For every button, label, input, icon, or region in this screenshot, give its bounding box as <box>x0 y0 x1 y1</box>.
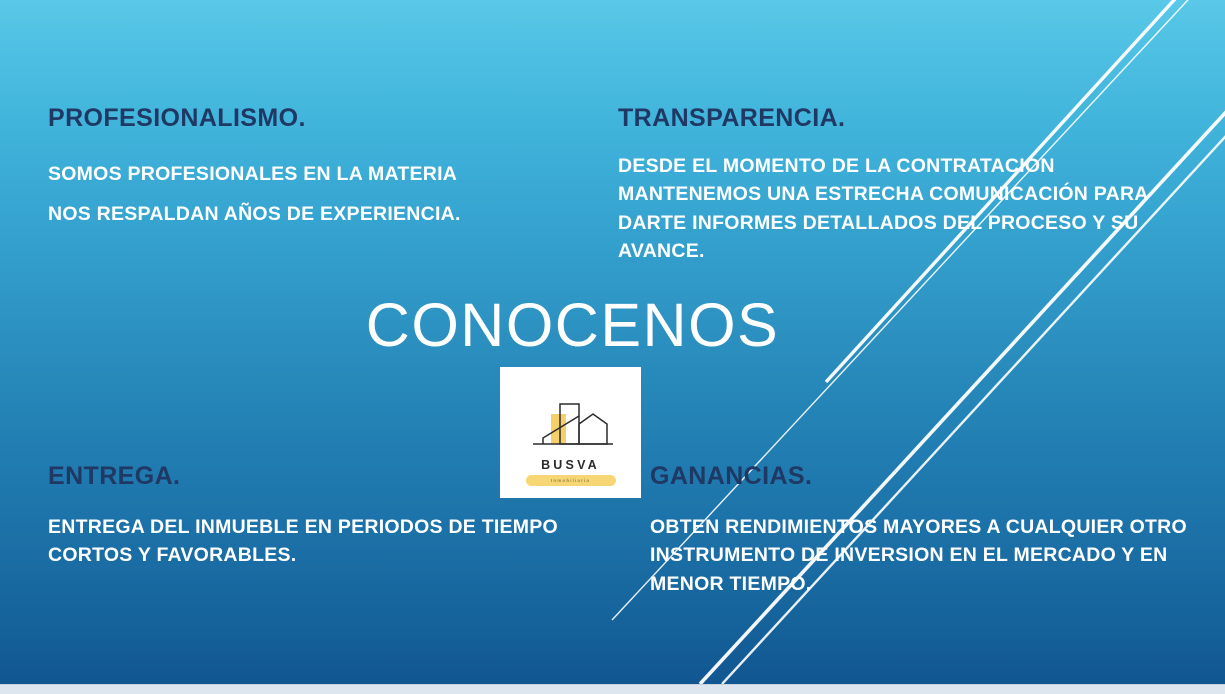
block-body-line: OBTEN RENDIMIENTOS MAYORES A CUALQUIER O… <box>650 513 1187 542</box>
block-heading-profesionalismo: PROFESIONALISMO. <box>48 105 461 133</box>
block-heading-transparencia: TRANSPARENCIA. <box>618 105 1149 133</box>
presentation-slide: PROFESIONALISMO. SOMOS PROFESIONALES EN … <box>0 0 1225 684</box>
block-heading-ganancias: GANANCIAS. <box>650 463 1187 491</box>
viewer-bottom-strip <box>0 684 1225 694</box>
text-block-transparencia: TRANSPARENCIA. DESDE EL MOMENTO DE LA CO… <box>618 105 1149 266</box>
block-body-line: ENTREGA DEL INMUEBLE EN PERIODOS DE TIEM… <box>48 513 558 542</box>
block-body-line: NOS RESPALDAN AÑOS DE EXPERIENCIA. <box>48 194 461 235</box>
text-block-ganancias: GANANCIAS. OBTEN RENDIMIENTOS MAYORES A … <box>650 463 1187 598</box>
block-body-line: SOMOS PROFESIONALES EN LA MATERIA <box>48 154 461 195</box>
block-body-line: INSTRUMENTO DE INVERSION EN EL MERCADO Y… <box>650 541 1187 570</box>
block-heading-entrega: ENTREGA. <box>48 463 558 491</box>
block-body-line: DARTE INFORMES DETALLADOS DEL PROCESO Y … <box>618 209 1149 238</box>
block-body-line: AVANCE. <box>618 237 1149 266</box>
page-title: CONOCENOS <box>0 295 1145 356</box>
block-body-line: MENOR TIEMPO. <box>650 570 1187 599</box>
text-block-profesionalismo: PROFESIONALISMO. SOMOS PROFESIONALES EN … <box>48 105 461 235</box>
building-icon <box>525 400 617 456</box>
text-block-entrega: ENTREGA. ENTREGA DEL INMUEBLE EN PERIODO… <box>48 463 558 570</box>
block-body-line: MANTENEMOS UNA ESTRECHA COMUNICACIÓN PAR… <box>618 180 1149 209</box>
block-body-line: DESDE EL MOMENTO DE LA CONTRATACION <box>618 152 1149 181</box>
block-body-line: CORTOS Y FAVORABLES. <box>48 541 558 570</box>
